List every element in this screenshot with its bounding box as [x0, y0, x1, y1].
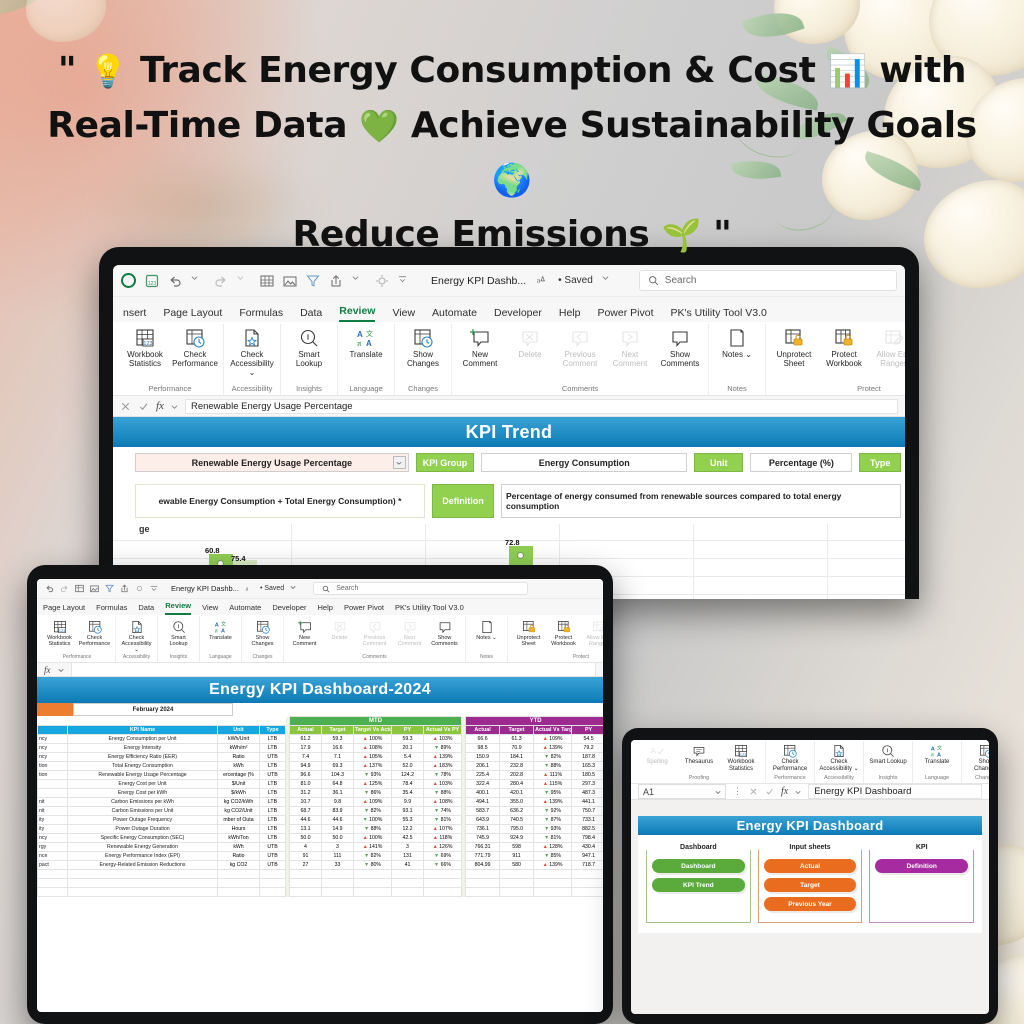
ribbon-button-check-accessibility[interactable]: Check Accessibility ⌄: [120, 619, 153, 653]
cell-mtd-actual: 13.1: [290, 825, 322, 834]
page-title: " 💡 Track Energy Consumption & Cost 📊 wi…: [0, 44, 1024, 263]
cell-empty: [500, 879, 534, 888]
cell-ytd-target: 420.1: [500, 789, 534, 798]
tab-page-layout[interactable]: Page Layout: [163, 307, 222, 322]
chevron-down-icon[interactable]: [171, 403, 178, 410]
cell-empty: [260, 888, 286, 897]
cell-mtd-target: 64.8: [322, 780, 354, 789]
cell-empty: [354, 879, 392, 888]
insert-function-icon[interactable]: fx: [781, 786, 788, 797]
cell-category: [38, 789, 68, 798]
nav-button-definition[interactable]: Definition: [875, 859, 968, 873]
cell-empty: [466, 879, 500, 888]
formula-bar: A1 ⋮ fx Energy KPI Dashboard: [631, 784, 989, 800]
ribbon-group-items: Check Accessibility ⌄: [120, 619, 153, 653]
cell-mtd-py: 55.3: [392, 816, 424, 825]
ribbon-button-label: Check Performance: [770, 759, 810, 772]
cell-ytd-actual: 98.5: [466, 744, 500, 753]
cell-mtd-target-vs-actual: ▼ 82%: [354, 852, 392, 861]
ribbon-group-label: Performance: [149, 384, 192, 393]
ribbon-group-label: Protect: [857, 384, 881, 393]
ribbon-button-label: Allow Edit Ranges: [582, 635, 603, 647]
cell-mtd-actual: 94.9: [290, 762, 322, 771]
cell-mtd-target-vs-actual: ▼ 82%: [354, 807, 392, 816]
svg-text:文: 文: [937, 745, 942, 752]
trend-down-icon: ▼: [363, 817, 368, 823]
ribbon-group-items: Check Performance: [770, 744, 810, 772]
trend-up-icon: ▲: [433, 844, 438, 850]
table-icon[interactable]: [75, 584, 84, 593]
workbook-statistics-icon: 123: [734, 744, 748, 758]
cell-type: LTB: [260, 789, 286, 798]
chevron-down-icon[interactable]: [58, 667, 64, 673]
cell-ytd-actual-vs-target: ▲ 128%: [534, 843, 572, 852]
ribbon-group-items: A文สATranslate: [342, 327, 390, 360]
share-icon[interactable]: [120, 584, 129, 593]
chevron-down-icon[interactable]: [715, 789, 721, 795]
cell-unit: Ratio: [218, 753, 260, 762]
tab-pk-utility-tool[interactable]: PK's Utility Tool V3.0: [671, 307, 767, 322]
tab-automate[interactable]: Automate: [432, 307, 477, 322]
tab-help[interactable]: Help: [318, 603, 333, 615]
tab-formulas[interactable]: Formulas: [96, 603, 127, 615]
cancel-edit-icon[interactable]: [120, 401, 131, 412]
search-input[interactable]: Search: [639, 270, 897, 291]
nav-button-target[interactable]: Target: [764, 878, 857, 892]
table-row: ityPower Outage DurationHoursLTB13.114.9…: [38, 825, 604, 834]
cell-mtd-target-vs-actual: ▼ 80%: [354, 861, 392, 870]
bar-chart-icon: 📊: [828, 52, 867, 90]
name-box[interactable]: A1: [638, 784, 726, 799]
cell-category: [38, 780, 68, 789]
navigation-columns: DashboardDashboardKPI TrendInput sheetsA…: [638, 840, 982, 933]
trend-down-icon: ▼: [364, 826, 369, 832]
ribbon-button-allow-edit-ranges: Allow Edit Ranges: [870, 327, 905, 369]
cell-type: LTB: [260, 834, 286, 843]
ribbon-group-items: Check Accessibility ⌄: [819, 744, 859, 772]
ribbon-group-items: A文สATranslate: [917, 744, 957, 766]
tab-automate[interactable]: Automate: [229, 603, 261, 615]
next-comment-icon: [620, 327, 640, 349]
cell-unit: kWh/Unit: [218, 735, 260, 744]
ribbon-group-label: Performance: [774, 775, 806, 781]
cell-empty: [466, 888, 500, 897]
cell-category: tion: [38, 771, 68, 780]
file-name-label[interactable]: Energy KPI Dashb...: [171, 584, 239, 593]
insert-function-icon[interactable]: fx: [44, 665, 51, 675]
more-options-icon[interactable]: ⋮: [733, 786, 742, 797]
col-ytd-py: PY: [572, 726, 603, 735]
tab-formulas[interactable]: Formulas: [239, 307, 283, 322]
cell-kpi-name: Renewable Energy Usage Percentage: [68, 771, 218, 780]
ribbon-group-protect: Unprotect SheetProtect WorkbookAllow Edi…: [508, 616, 603, 662]
month-value[interactable]: February 2024: [73, 703, 233, 716]
ribbon-group-insights: Smart LookupInsights: [281, 324, 338, 395]
ribbon-group-label: Comments: [562, 384, 598, 393]
save-status-label[interactable]: • Saved: [558, 275, 593, 286]
ribbon-group-changes: Show ChangesChanges: [962, 741, 989, 783]
ribbon-button-label: Delete: [332, 635, 348, 641]
cell-ytd-actual-vs-target: ▼ 88%: [534, 762, 572, 771]
chevron-down-icon[interactable]: [290, 584, 299, 593]
kpi-selector-dropdown[interactable]: Renewable Energy Usage Percentage: [135, 453, 409, 472]
ribbon-group-comments: New CommentDeletePrevious CommentNext Co…: [284, 616, 466, 662]
ribbon-group-accessibility: Check Accessibility ⌄Accessibility: [116, 616, 158, 662]
ribbon-button-label: Allow Edit Ranges: [870, 351, 905, 369]
trend-down-icon: ▼: [434, 817, 439, 823]
cell-ytd-target: 636.2: [500, 807, 534, 816]
undo-icon[interactable]: [168, 274, 182, 288]
name-box-value: A1: [643, 787, 654, 797]
ribbon-button-protect-workbook[interactable]: Protect Workbook: [547, 619, 580, 647]
tab-data[interactable]: Data: [138, 603, 154, 615]
tab-data[interactable]: Data: [300, 307, 322, 322]
cell-type: LTB: [260, 816, 286, 825]
cell-ytd-actual-vs-target: ▼ 93%: [534, 825, 572, 834]
ribbon-group-language: A文สATranslateLanguage: [913, 741, 962, 783]
ribbon-group-items: Show Changes: [246, 619, 279, 647]
ribbon-button-smart-lookup[interactable]: Smart Lookup: [162, 619, 195, 647]
cell-mtd-target: 59.3: [322, 735, 354, 744]
trend-up-icon: ▲: [543, 781, 548, 787]
cell-mtd-target-vs-actual: ▲ 100%: [354, 834, 392, 843]
cell-mtd-actual: 68.7: [290, 807, 322, 816]
ribbon-button-label: Translate: [209, 635, 232, 641]
cell-mtd-actual-vs-py: ▼ 81%: [424, 816, 462, 825]
trend-up-icon: ▲: [363, 781, 368, 787]
ribbon-button-notes[interactable]: Notes ⌄: [713, 327, 761, 360]
cancel-edit-icon[interactable]: [749, 787, 758, 796]
ribbon-button-smart-lookup[interactable]: Smart Lookup: [285, 327, 333, 369]
cell-type: UTB: [260, 771, 286, 780]
table-row: nceEnergy Performance Index (EPI)RatioUT…: [38, 852, 604, 861]
tab-power-pivot[interactable]: Power Pivot: [597, 307, 653, 322]
translate-icon: A文สA: [356, 327, 376, 349]
nav-button-actual[interactable]: Actual: [764, 859, 857, 873]
ribbon-group-language: A文สATranslateLanguage: [200, 616, 242, 662]
svg-text:123: 123: [148, 281, 157, 287]
tab-insert[interactable]: nsert: [123, 307, 146, 322]
autosave-icon[interactable]: 123: [145, 274, 159, 288]
nav-button-kpi-trend[interactable]: KPI Trend: [652, 878, 745, 892]
ribbon-button-show-changes[interactable]: Show Changes: [966, 744, 989, 772]
ribbon-button-label: Workbook Statistics: [121, 351, 169, 369]
cell-mtd-actual: 27: [290, 861, 322, 870]
kpi-group-value: Energy Consumption: [481, 453, 687, 472]
chevron-down-icon[interactable]: [352, 274, 366, 288]
cell-ytd-actual-vs-target: ▼ 87%: [534, 816, 572, 825]
cell-category: ncy: [38, 834, 68, 843]
ribbon-button-label: Next Comment: [606, 351, 654, 369]
cell-mtd-target: 14.9: [322, 825, 354, 834]
headline-line-2-text-a: Real-Time Data: [47, 105, 347, 146]
ribbon-button-check-accessibility[interactable]: Check Accessibility ⌄: [819, 744, 859, 772]
cell-unit: kg CO2/kWh: [218, 798, 260, 807]
table-icon[interactable]: [260, 274, 274, 288]
headline-line-3: Reduce Emissions 🌱 ": [24, 208, 1000, 263]
cell-category: nce: [38, 852, 68, 861]
ribbon-button-thesaurus[interactable]: Thesaurus: [679, 744, 719, 766]
col-ytd-actual: Actual: [466, 726, 500, 735]
office-logo-icon: [121, 273, 136, 288]
trend-down-icon: ▼: [544, 835, 549, 841]
cell-empty: [322, 870, 354, 879]
file-name-label[interactable]: Energy KPI Dashb...: [431, 275, 526, 287]
cell-ytd-py: 441.1: [572, 798, 603, 807]
cell-mtd-actual: 81.0: [290, 780, 322, 789]
cell-empty: [500, 888, 534, 897]
ribbon-button-translate[interactable]: A文สATranslate: [342, 327, 390, 360]
chevron-down-icon[interactable]: [602, 274, 616, 288]
cell-mtd-py: 20.1: [392, 744, 424, 753]
cell-empty: [218, 879, 260, 888]
trend-down-icon: ▼: [544, 826, 549, 832]
touch-mode-icon[interactable]: [135, 584, 144, 593]
ribbon-button-workbook-statistics[interactable]: 123Workbook Statistics: [43, 619, 76, 647]
ribbon-button-new-comment[interactable]: New Comment: [288, 619, 321, 647]
ribbon-group-accessibility: Check Accessibility ⌄Accessibility: [224, 324, 281, 395]
cell-category: ity: [38, 816, 68, 825]
nav-group-title: Input sheets: [759, 844, 862, 851]
filter-icon[interactable]: [105, 584, 114, 593]
chevron-down-icon[interactable]: [237, 274, 251, 288]
cell-mtd-py: 42.5: [392, 834, 424, 843]
cell-ytd-actual: 745.9: [466, 834, 500, 843]
cell-ytd-actual: 322.4: [466, 780, 500, 789]
search-icon: [648, 275, 659, 286]
cell-ytd-actual: 66.6: [466, 735, 500, 744]
cell-empty: [260, 870, 286, 879]
cell-mtd-actual: 4: [290, 843, 322, 852]
cell-ytd-actual: 643.9: [466, 816, 500, 825]
filter-icon[interactable]: [306, 274, 320, 288]
ribbon-group-comments: New CommentDeletePrevious CommentNext Co…: [452, 324, 709, 395]
cell-mtd-actual: 50.0: [290, 834, 322, 843]
ribbon-group-label: Insights: [170, 654, 187, 660]
cell-mtd-py: 124.2: [392, 771, 424, 780]
ribbon-button-show-changes[interactable]: Show Changes: [399, 327, 447, 369]
ribbon-button-workbook-statistics[interactable]: 123Workbook Statistics: [121, 327, 169, 369]
group-header-mtd: MTD: [290, 717, 462, 726]
ribbon-button-workbook-statistics[interactable]: 123Workbook Statistics: [721, 744, 761, 772]
chevron-down-icon[interactable]: [393, 456, 406, 469]
cell-ytd-py: 79.2: [572, 744, 603, 753]
table-row: pactEnergy-Related Emission Reductionskg…: [38, 861, 604, 870]
cell-mtd-actual-vs-py: ▲ 118%: [424, 834, 462, 843]
cell-ytd-actual: 804.99: [466, 861, 500, 870]
cell-ytd-actual-vs-target: ▲ 111%: [534, 771, 572, 780]
tab-page-layout[interactable]: Page Layout: [43, 603, 85, 615]
customize-toolbar-icon[interactable]: [398, 274, 412, 288]
tab-help[interactable]: Help: [559, 307, 581, 322]
cell-mtd-py: 12.2: [392, 825, 424, 834]
cell-mtd-actual-vs-py: ▲ 108%: [424, 798, 462, 807]
trend-up-icon: ▲: [363, 745, 368, 751]
cell-mtd-actual-vs-py: ▼ 89%: [424, 744, 462, 753]
tab-developer[interactable]: Developer: [272, 603, 306, 615]
cell-type: LTB: [260, 735, 286, 744]
table-group-header-row: MTD YTD: [38, 717, 604, 726]
cell-ytd-target: 580: [500, 861, 534, 870]
ribbon-group-items: 123Workbook StatisticsCheck Performance: [43, 619, 111, 647]
ribbon-button-show-changes[interactable]: Show Changes: [246, 619, 279, 647]
col-unit: Unit: [218, 726, 260, 735]
kpi-trend-banner: KPI Trend: [113, 417, 905, 447]
cell-empty: [218, 888, 260, 897]
ribbon-button-notes[interactable]: Notes ⌄: [470, 619, 503, 641]
customize-toolbar-icon[interactable]: [150, 584, 159, 593]
search-input[interactable]: Search: [313, 582, 528, 595]
svg-text:a: a: [246, 586, 249, 592]
trend-down-icon: ▼: [544, 853, 549, 859]
cell-ytd-py: 947.1: [572, 852, 603, 861]
tab-review[interactable]: Review: [339, 305, 375, 322]
tab-view[interactable]: View: [392, 307, 415, 322]
tab-power-pivot[interactable]: Power Pivot: [344, 603, 384, 615]
cell-mtd-actual-vs-py: ▲ 103%: [424, 780, 462, 789]
ribbon-button-show-comments[interactable]: Show Comments: [428, 619, 461, 647]
table-row: rgyRenewable Energy GenerationkWhUTB43▲ …: [38, 843, 604, 852]
tab-view[interactable]: View: [202, 603, 218, 615]
cell-empty: [322, 888, 354, 897]
nav-button-dashboard[interactable]: Dashboard: [652, 859, 745, 873]
undo-icon[interactable]: [45, 584, 54, 593]
ribbon-button-smart-lookup[interactable]: Smart Lookup: [868, 744, 908, 766]
ribbon-group-changes: Show ChangesChanges: [242, 616, 284, 662]
trend-up-icon: ▲: [363, 844, 368, 850]
formula-input[interactable]: Energy KPI Dashboard: [808, 784, 982, 799]
ribbon-button-check-performance[interactable]: Check Performance: [171, 327, 219, 369]
touch-mode-icon[interactable]: [375, 274, 389, 288]
insert-function-icon[interactable]: fx: [156, 400, 164, 412]
cell-ytd-py: 798.4: [572, 834, 603, 843]
kpi-group-label: KPI Group: [416, 453, 475, 472]
cell-empty: [68, 879, 218, 888]
cell-empty: [354, 888, 392, 897]
cell-ytd-target: 70.9: [500, 744, 534, 753]
tab-pk-utility-tool[interactable]: PK's Utility Tool V3.0: [395, 603, 464, 615]
save-status-label[interactable]: • Saved: [260, 585, 284, 592]
ribbon-button-unprotect-sheet[interactable]: Unprotect Sheet: [512, 619, 545, 647]
chevron-down-icon[interactable]: [191, 274, 205, 288]
delete-comment-icon: [333, 619, 347, 634]
ribbon-button-label: Translate: [925, 759, 950, 766]
ribbon-button-unprotect-sheet[interactable]: Unprotect Sheet: [770, 327, 818, 369]
table-row: nitCarbon Emissions per kWhkg CO2/kWhLTB…: [38, 798, 604, 807]
ribbon-group-proofing: ASpellingThesaurus123Workbook Statistics…: [633, 741, 766, 783]
cell-type: LTB: [260, 807, 286, 816]
nav-group-dashboard: DashboardDashboardKPI Trend: [646, 850, 751, 923]
svg-text:A: A: [931, 746, 935, 752]
tab-developer[interactable]: Developer: [494, 307, 542, 322]
picture-icon[interactable]: [90, 584, 99, 593]
svg-text:A: A: [366, 339, 372, 348]
cell-ytd-py: 297.3: [572, 780, 603, 789]
ribbon-button-check-accessibility[interactable]: Check Accessibility ⌄: [228, 327, 276, 378]
headline-line-1-suffix: with: [879, 50, 966, 91]
ribbon-button-label: Delete: [518, 351, 541, 360]
svg-text:ส: ส: [214, 628, 217, 633]
month-selector-row: February 2024: [37, 703, 603, 716]
chevron-down-icon[interactable]: [795, 789, 801, 795]
headline-line-1-text: Track Energy Consumption & Cost: [140, 50, 816, 91]
svg-text:ส: ส: [357, 341, 362, 348]
ribbon-group-items: Smart Lookup: [285, 327, 333, 369]
cell-ytd-target: 202.8: [500, 771, 534, 780]
cell-type: UTB: [260, 852, 286, 861]
cell-ytd-py: 54.5: [572, 735, 603, 744]
headline-line-2-text-b: Achieve Sustainability Goals: [411, 105, 977, 146]
cell-type: LTB: [260, 762, 286, 771]
cell-mtd-actual: 91: [290, 852, 322, 861]
trend-down-icon: ▼: [364, 772, 369, 778]
ribbon-group-insights: Smart LookupInsights: [158, 616, 200, 662]
ribbon-group-items: Show Changes: [399, 327, 447, 369]
cell-ytd-py: 718.7: [572, 861, 603, 870]
cell-mtd-actual-vs-py: ▲ 139%: [424, 753, 462, 762]
workbook-statistics-icon: 123: [53, 619, 67, 634]
trend-up-icon: ▲: [433, 781, 438, 787]
cell-category: nit: [38, 798, 68, 807]
picture-icon[interactable]: [283, 274, 297, 288]
cell-ytd-actual-vs-target: ▲ 139%: [534, 744, 572, 753]
confirm-edit-icon[interactable]: [138, 401, 149, 412]
cell-empty: [260, 879, 286, 888]
ribbon-button-check-performance[interactable]: Check Performance: [78, 619, 111, 647]
cell-type: LTB: [260, 825, 286, 834]
cell-ytd-actual: 736.1: [466, 825, 500, 834]
cell-category: nit: [38, 807, 68, 816]
formula-input[interactable]: [71, 662, 597, 677]
trend-down-icon: ▼: [434, 808, 439, 814]
ribbon-group-items: A文สATranslate: [204, 619, 237, 641]
cell-empty: [424, 870, 462, 879]
ribbon-group-insights: Smart LookupInsights: [864, 741, 913, 783]
redo-icon[interactable]: [60, 584, 69, 593]
cell-kpi-name: Energy Cost per kWh: [68, 789, 218, 798]
ribbon-button-translate[interactable]: A文สATranslate: [917, 744, 957, 766]
col-mtd-target-vs-actual: Target Vs Actual: [354, 726, 392, 735]
cell-mtd-actual-vs-py: ▼ 78%: [424, 771, 462, 780]
table-row: ncyEnergy Consumption per UnitkWh/UnitLT…: [38, 735, 604, 744]
cell-mtd-target: 9.8: [322, 798, 354, 807]
check-performance-icon: [783, 744, 797, 758]
accessibility-tag-icon: a: [535, 274, 549, 288]
workbook-statistics-icon: 123: [135, 327, 155, 349]
ribbon-button-show-comments[interactable]: Show Comments: [656, 327, 704, 369]
confirm-edit-icon[interactable]: [765, 787, 774, 796]
cell-ytd-actual-vs-target: ▼ 82%: [534, 753, 572, 762]
cell-type: UTB: [260, 861, 286, 870]
ribbon-button-protect-workbook[interactable]: Protect Workbook: [820, 327, 868, 369]
tab-review[interactable]: Review: [165, 601, 191, 615]
formula-input[interactable]: Renewable Energy Usage Percentage: [185, 399, 898, 414]
col-kpi-name: KPI Name: [68, 726, 218, 735]
redo-icon[interactable]: [214, 274, 228, 288]
nav-button-previous-year[interactable]: Previous Year: [764, 897, 857, 911]
ribbon-button-label: Thesaurus: [685, 759, 713, 766]
cell-unit: $/kWh: [218, 789, 260, 798]
ribbon-button-new-comment[interactable]: New Comment: [456, 327, 504, 369]
ribbon-group-label: Comments: [362, 654, 386, 660]
cell-mtd-target-vs-actual: ▲ 137%: [354, 762, 392, 771]
share-icon[interactable]: [329, 274, 343, 288]
cell-unit: kg CO2: [218, 861, 260, 870]
ribbon-button-check-performance[interactable]: Check Performance: [770, 744, 810, 772]
ribbon-button-label: Next Comment: [393, 635, 426, 647]
cell-mtd-py: 59.3: [392, 735, 424, 744]
ribbon-button-translate[interactable]: A文สATranslate: [204, 619, 237, 641]
